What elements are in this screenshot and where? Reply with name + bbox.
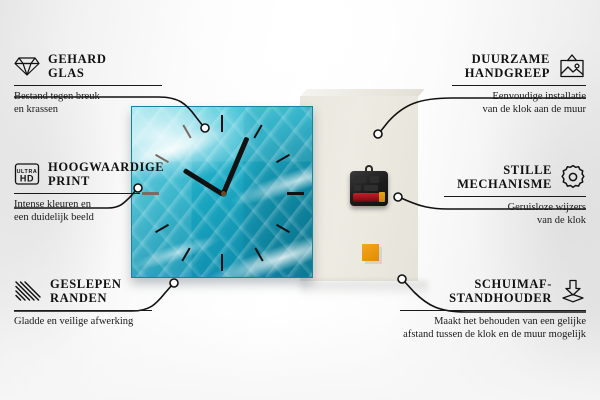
battery-positive-terminal bbox=[379, 192, 385, 202]
ultra-hd-icon: ultra HD bbox=[14, 162, 40, 186]
feature-subtitle: Intense kleuren en een duidelijk beeld bbox=[14, 198, 140, 225]
feature-title: DUURZAME HANDGREEP bbox=[465, 52, 550, 81]
feature-heading: GESLEPEN RANDEN bbox=[14, 277, 152, 306]
diamond-icon bbox=[14, 55, 40, 77]
spacer-arrow-icon bbox=[560, 279, 586, 303]
mechanism-detail bbox=[370, 176, 379, 183]
feature-title: GESLEPEN RANDEN bbox=[50, 277, 122, 306]
feature-heading: GEHARD GLAS bbox=[14, 52, 162, 81]
feature-gehard-glas: GEHARD GLAS Bestand tegen breuk en krass… bbox=[14, 52, 162, 117]
svg-text:HD: HD bbox=[20, 174, 34, 184]
feature-divider bbox=[14, 193, 140, 194]
feature-heading: SCHUIMAF- STANDHOUDER bbox=[400, 277, 586, 306]
feature-subtitle: Gladde en veilige afwerking bbox=[14, 315, 152, 328]
beveled-edge-icon bbox=[14, 280, 42, 302]
feature-hoogwaardige-print: ultra HD HOOGWAARDIGE PRINT Intense kleu… bbox=[14, 160, 140, 225]
feature-divider bbox=[400, 310, 586, 311]
mechanism-detail bbox=[364, 185, 378, 191]
hour-marker bbox=[221, 115, 223, 132]
feature-divider bbox=[14, 85, 162, 86]
feature-duurzame-handgreep: DUURZAME HANDGREEP Eenvoudige installati… bbox=[452, 52, 586, 117]
feature-heading: DUURZAME HANDGREEP bbox=[452, 52, 586, 81]
feature-divider bbox=[452, 85, 586, 86]
picture-hanger-icon bbox=[558, 54, 586, 78]
hour-marker bbox=[287, 192, 304, 195]
hour-marker bbox=[142, 192, 159, 195]
feature-subtitle: Geruisloze wijzers van de klok bbox=[444, 201, 586, 228]
mechanism-detail bbox=[354, 185, 361, 191]
feature-heading: STILLE MECHANISME bbox=[444, 163, 586, 192]
feature-title: STILLE MECHANISME bbox=[457, 163, 552, 192]
clock-hand-pivot bbox=[221, 191, 226, 196]
feature-geslepen-randen: GESLEPEN RANDEN Gladde en veilige afwerk… bbox=[14, 277, 152, 328]
feature-title: HOOGWAARDIGE PRINT bbox=[48, 160, 164, 189]
feature-title: GEHARD GLAS bbox=[48, 52, 106, 81]
gear-icon bbox=[560, 164, 586, 190]
mechanism-detail bbox=[354, 176, 366, 183]
feature-schuimafstandhouder: SCHUIMAF- STANDHOUDER Maakt het behouden… bbox=[400, 277, 586, 342]
feature-subtitle: Eenvoudige installatie van de klok aan d… bbox=[452, 90, 586, 117]
foam-spacer bbox=[362, 244, 379, 261]
feature-subtitle: Maakt het behouden van een gelijke afsta… bbox=[400, 315, 586, 342]
feature-subtitle: Bestand tegen breuk en krassen bbox=[14, 90, 162, 117]
feature-heading: ultra HD HOOGWAARDIGE PRINT bbox=[14, 160, 140, 189]
feature-title: SCHUIMAF- STANDHOUDER bbox=[449, 277, 552, 306]
wall-clock bbox=[131, 106, 313, 278]
feature-divider bbox=[444, 196, 586, 197]
hour-marker bbox=[221, 254, 223, 271]
feature-divider bbox=[14, 310, 152, 311]
feature-stille-mechanisme: STILLE MECHANISME Geruisloze wijzers van… bbox=[444, 163, 586, 228]
